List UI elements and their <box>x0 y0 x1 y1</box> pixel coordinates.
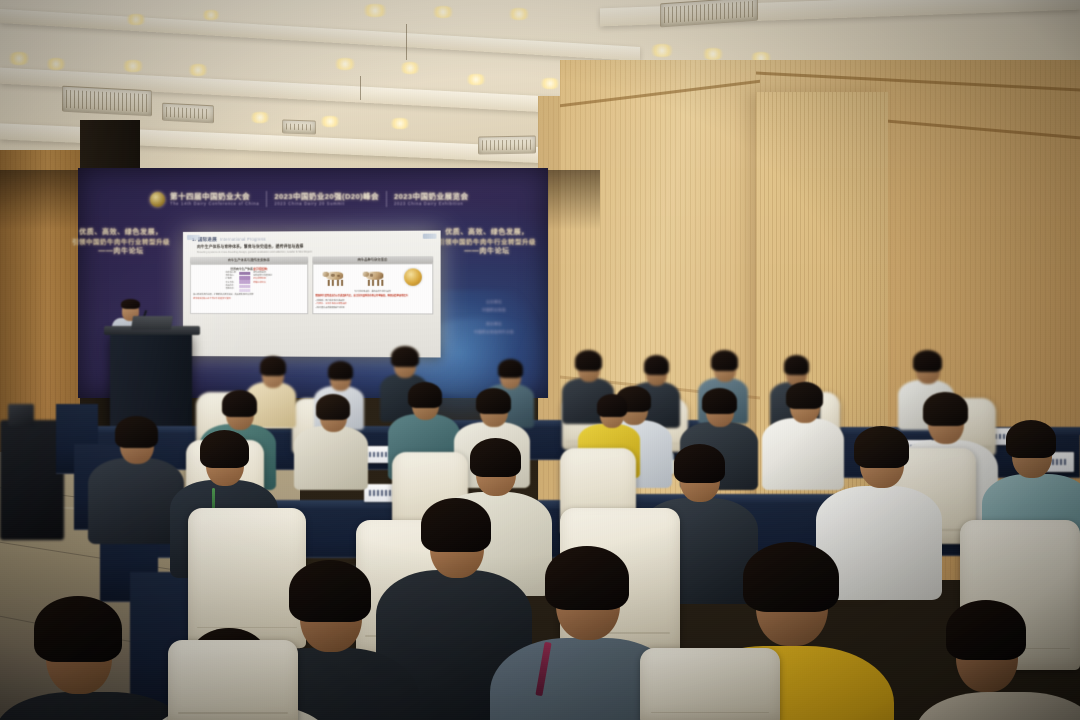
chair <box>640 648 780 720</box>
audience-hair <box>498 359 523 378</box>
ceiling-wire <box>406 24 407 60</box>
masthead-divider <box>266 191 267 207</box>
backdrop-sponsor-3: 承办单位 <box>442 322 546 327</box>
laptop <box>131 316 173 330</box>
slide-subtitle-en: Breeding systems & cross-breeding design… <box>197 250 435 254</box>
audience-torso <box>294 426 368 490</box>
audience-hair <box>289 560 371 622</box>
audience-hair <box>476 388 511 414</box>
ac-vent-icon <box>62 86 152 117</box>
presentation-slide: 1. 国际进展International Progress 肉牛生产体系与育种体… <box>183 231 441 358</box>
cattle-breed-illustration <box>324 269 347 286</box>
right-panel-bullets: • 安格斯、西门塔尔等引进品种 • 华西牛、云岭牛等自主培育品种 • 地方黄牛品… <box>315 300 430 311</box>
ac-vent-icon <box>162 103 214 124</box>
cattle-breed-illustration <box>364 269 387 286</box>
audience-hair <box>946 600 1026 660</box>
audience-hair <box>913 350 942 372</box>
masthead-cn-1: 第十四届中国奶业大会 <box>170 192 259 201</box>
left-panel-note-red: 遗传改良的核心在于种公牛的选择与使用 <box>193 298 305 301</box>
slide-logo-left <box>187 235 200 240</box>
pyramid-right-label-3: 终端父本杂交 <box>253 281 272 284</box>
audience-hair <box>1006 420 1056 458</box>
slogan-left-line2: 引领中国奶牛肉牛行业转型升级 <box>58 238 184 247</box>
sponsor-label-1: 主办单位 <box>486 300 502 304</box>
downlight-icon <box>124 14 148 25</box>
sponsor-label-2: 中国奶业协会 <box>482 308 506 312</box>
pyramid-left-labels: 纯种核心群 育种核心 扩繁群 杂交母本 商品肉牛 育肥出栏 <box>226 272 236 291</box>
slogan-right-line3: ——肉牛论坛 <box>424 247 550 257</box>
audience-hair <box>674 444 725 483</box>
masthead-cn-3: 2023中国奶业展览会 <box>394 192 468 201</box>
audience-hair <box>575 350 602 371</box>
slide-title: 1. 国际进展International Progress <box>192 236 435 243</box>
audience-hair <box>545 546 629 610</box>
downlight-icon <box>398 62 422 74</box>
pyramid-bar-column <box>239 272 250 292</box>
audience-hair <box>200 430 249 468</box>
audience-hair <box>786 382 823 409</box>
pyramid-segment-0 <box>239 272 250 275</box>
audience-hair <box>711 350 738 371</box>
ceiling-wire <box>360 76 361 100</box>
slide-title-en: International Progress <box>220 237 266 242</box>
chair <box>188 508 306 648</box>
pyramid-diagram: 纯种核心群 育种核心 扩繁群 杂交母本 商品肉牛 育肥出栏 <box>193 272 305 292</box>
marbled-beef-cross-section <box>404 269 422 286</box>
ac-vent-icon <box>282 119 316 134</box>
conference-emblem-icon <box>150 192 165 207</box>
pyramid-right-labels: 遗传进展来源 纯种选育与性能测定 杂交优势利用 终端父本杂交 <box>253 272 272 285</box>
slide-left-panel: 肉牛生产体系与遗传改良体系 世界肉牛生产体系金字塔结构 纯种核心群 育种核心 扩… <box>190 256 308 314</box>
conference-hall-photo: 第十四届中国奶业大会 The 14th Dairy Conference of … <box>0 0 1080 720</box>
audience-hair <box>222 390 257 417</box>
speaker-hair <box>121 299 140 309</box>
backdrop-sponsor-2: 中国奶业协会 <box>442 308 546 313</box>
slogan-left-line3: ——肉牛论坛 <box>58 247 184 257</box>
downlight-icon <box>464 74 488 85</box>
downlight-icon <box>248 112 272 123</box>
downlight-icon <box>120 60 146 72</box>
av-equipment-case <box>0 420 64 540</box>
backdrop-slogan-right: 优质、高效、绿色发展， 引领中国奶牛肉牛行业转型升级 ——肉牛论坛 <box>424 228 550 258</box>
backdrop-slogan-left: 优质、高效、绿色发展， 引领中国奶牛肉牛行业转型升级 ——肉牛论坛 <box>58 228 184 258</box>
pyramid-left-label-5: 育肥出栏 <box>226 288 236 291</box>
pyramid-segment-2 <box>239 280 250 283</box>
audience-hair <box>34 596 122 662</box>
audience-hair <box>784 355 809 375</box>
projection-screen: 1. 国际进展International Progress 肉牛生产体系与育种体… <box>183 231 441 358</box>
downlight-icon <box>6 52 32 65</box>
right-panel-bullet-2: • 地方黄牛品种资源保护与利用 <box>315 307 430 311</box>
backdrop-sponsor-1: 主办单位 <box>442 300 546 305</box>
right-panel-caption: 专门化肉用品种、兼用品种与地方品种 <box>315 289 430 292</box>
sponsor-label-4: 中国奶业协会肉牛分会 <box>474 330 514 334</box>
ac-vent-icon <box>478 135 536 154</box>
masthead-en-3: 2023 China Dairy Exhibition <box>394 201 468 206</box>
masthead-en-1: The 14th Dairy Conference of China <box>170 201 259 206</box>
left-panel-body: 世界肉牛生产体系金字塔结构 纯种核心群 育种核心 扩繁群 杂交母本 商品肉牛 育… <box>190 263 308 314</box>
downlight-icon <box>506 8 532 20</box>
pyramid-segment-4 <box>239 289 250 292</box>
slogan-right-line2: 引领中国奶牛肉牛行业转型升级 <box>424 238 550 247</box>
masthead-divider <box>386 191 387 207</box>
podium <box>110 332 192 428</box>
chair <box>168 640 298 720</box>
audience-hair <box>923 392 968 426</box>
audience-torso <box>762 418 844 490</box>
right-panel-alert: 我国肉牛遗传改良仍以引进品种为主，自主培育品种的市场占有率偏低，种源自给率亟待提… <box>315 295 430 298</box>
downlight-icon <box>200 10 222 20</box>
left-panel-sub-red: 金字塔结构 <box>253 266 267 270</box>
audience-hair <box>702 388 737 414</box>
slide-logo-right <box>423 234 437 239</box>
slide-right-panel: 肉牛品种与杂交组合 <box>312 256 433 314</box>
slide-columns: 肉牛生产体系与遗传改良体系 世界肉牛生产体系金字塔结构 纯种核心群 育种核心 扩… <box>190 256 433 314</box>
audience-hair <box>316 394 350 420</box>
downlight-icon <box>700 48 726 60</box>
downlight-icon <box>360 4 390 17</box>
audience-hair <box>854 426 909 468</box>
audience-hair <box>408 382 442 408</box>
masthead-segment-2: 2023中国奶业20强(D20)峰会 2023 China Dairy 20 S… <box>274 192 379 207</box>
downlight-icon <box>388 118 412 129</box>
audience-hair <box>260 356 286 376</box>
downlight-icon <box>186 64 210 76</box>
downlight-icon <box>538 78 562 89</box>
pyramid-segment-1 <box>239 276 250 279</box>
audience-hair <box>421 498 491 552</box>
audience-hair <box>743 542 839 612</box>
slide-subtitle: 肉牛生产体系与育种体系，繁育与杂交组合，遗传评估与选择 <box>197 243 435 249</box>
left-panel-subtitle: 世界肉牛生产体系金字塔结构 <box>193 266 305 270</box>
audience-torso <box>916 692 1080 720</box>
sponsor-label-3: 承办单位 <box>486 322 502 326</box>
right-panel-body: 专门化肉用品种、兼用品种与地方品种 我国肉牛遗传改良仍以引进品种为主，自主培育品… <box>312 263 433 314</box>
audience-hair <box>644 355 669 375</box>
downlight-icon <box>318 116 342 127</box>
downlight-icon <box>648 44 676 57</box>
backdrop-sponsor-4: 中国奶业协会肉牛分会 <box>442 330 546 335</box>
left-panel-note: 核心群提供遗传进展，扩繁群放大遗传效应，商品群实现杂交优势 <box>193 294 305 297</box>
audience-hair <box>391 346 419 367</box>
left-panel-sub-prefix: 世界肉牛生产体系 <box>230 266 253 270</box>
slogan-left-line1: 优质、高效、绿色发展， <box>58 228 184 238</box>
cattle-image-row <box>315 266 430 289</box>
masthead-segment-3: 2023中国奶业展览会 2023 China Dairy Exhibition <box>394 192 468 207</box>
pyramid-segment-3 <box>239 285 250 288</box>
masthead-cn-2: 2023中国奶业20强(D20)峰会 <box>274 192 379 201</box>
slogan-right-line1: 优质、高效、绿色发展， <box>424 228 550 238</box>
av-equipment-top <box>8 404 34 426</box>
masthead-segment-1: 第十四届中国奶业大会 The 14th Dairy Conference of … <box>170 192 259 207</box>
audience-hair <box>115 416 158 448</box>
downlight-icon <box>332 58 358 70</box>
downlight-icon <box>44 58 68 70</box>
backdrop-masthead: 第十四届中国奶业大会 The 14th Dairy Conference of … <box>150 186 460 212</box>
audience-hair <box>597 394 627 417</box>
audience-hair <box>470 438 521 477</box>
audience-hair <box>328 361 353 380</box>
downlight-icon <box>430 6 456 18</box>
masthead-en-2: 2023 China Dairy 20 Summit <box>274 201 379 206</box>
